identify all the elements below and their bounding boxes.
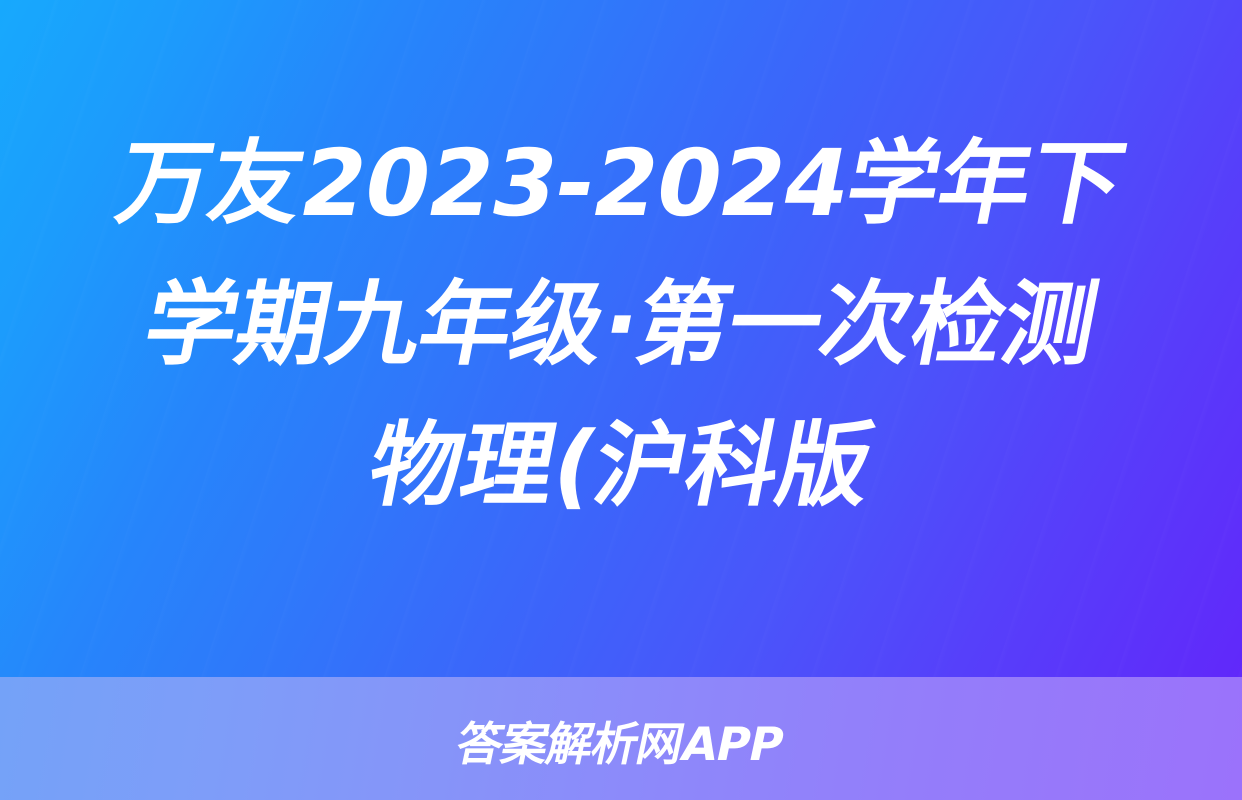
watermark-text: 答案解析网APP: [451, 708, 790, 774]
title-line-1: 万友2023-2024学年下: [106, 114, 1137, 255]
title-line-3: 物理(沪科版: [358, 396, 884, 537]
exam-cover-banner: 万友2023-2024学年下 学期九年级·第一次检测 物理(沪科版 答案解析网A…: [0, 0, 1242, 800]
banner-title: 万友2023-2024学年下 学期九年级·第一次检测 物理(沪科版: [0, 0, 1242, 677]
footer-watermark-band: 答案解析网APP: [0, 677, 1242, 800]
title-line-2: 学期九年级·第一次检测: [133, 255, 1110, 396]
